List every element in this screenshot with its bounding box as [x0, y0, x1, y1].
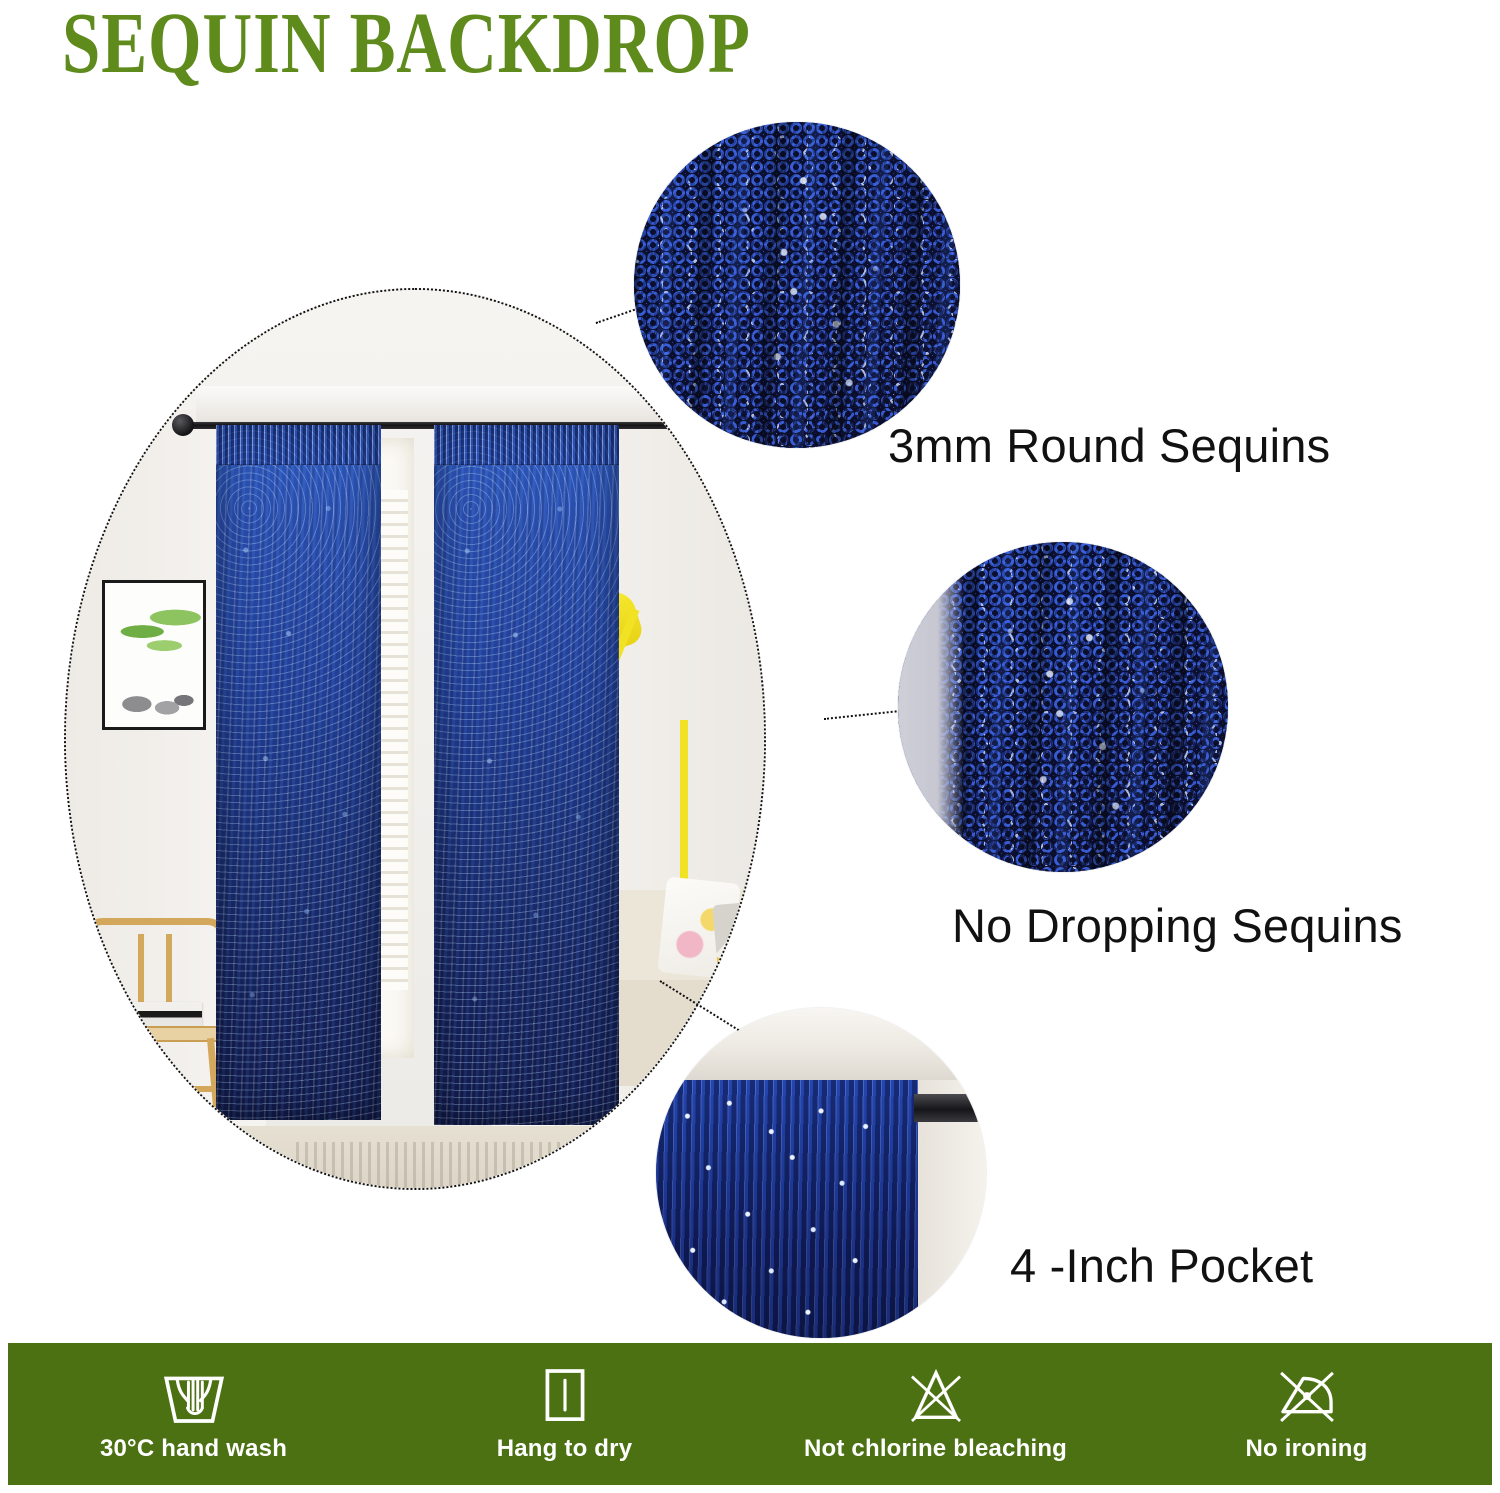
rod-pocket-closeup [656, 1008, 986, 1338]
chair-leg [85, 1038, 102, 1154]
rod-pocket [434, 425, 619, 465]
care-item-no-iron: No ironing [1121, 1343, 1492, 1485]
stones-art [115, 671, 199, 717]
ceiling-molding [656, 1008, 986, 1080]
stacked-books [104, 1002, 202, 1026]
care-item-no-bleach: Not chlorine bleaching [750, 1343, 1121, 1485]
hand-wash-icon [157, 1365, 231, 1427]
background-edge [898, 542, 964, 872]
chair-y-support [138, 934, 172, 1012]
sequin-panel-left [216, 425, 381, 1120]
rod-pocket [216, 425, 381, 465]
feature-label-no-dropping: No Dropping Sequins [952, 898, 1403, 953]
rod-end [914, 1094, 986, 1122]
page-title: SEQUIN BACKDROP [62, 0, 751, 94]
care-instructions-bar: 30°C hand wash Hang to dry Not chlorine … [8, 1343, 1492, 1485]
care-label-hand-wash: 30°C hand wash [100, 1435, 287, 1463]
no-chlorine-bleach-icon [899, 1365, 973, 1427]
rug-pattern [296, 1142, 626, 1190]
care-label-no-bleach: Not chlorine bleaching [804, 1435, 1067, 1463]
sequin-durability-closeup [898, 542, 1228, 872]
palm-leaf-art [111, 591, 203, 669]
sequin-macro-closeup [634, 122, 960, 448]
no-ironing-icon [1270, 1365, 1344, 1427]
care-item-hand-wash: 30°C hand wash [8, 1343, 379, 1485]
sequin-panel-right [434, 425, 619, 1125]
care-label-hang-dry: Hang to dry [497, 1435, 633, 1463]
framed-wall-art [102, 580, 206, 730]
chair-rail [92, 1086, 218, 1092]
feature-label-pocket: 4 -Inch Pocket [1010, 1238, 1313, 1293]
sequin-shimmer [434, 425, 619, 1125]
wooden-chair [80, 918, 230, 1158]
fabric-folds [634, 122, 960, 448]
care-label-no-iron: No ironing [1246, 1435, 1368, 1463]
hang-to-dry-icon [528, 1365, 602, 1427]
care-item-hang-dry: Hang to dry [379, 1343, 750, 1485]
sequin-sparkles [656, 1080, 918, 1338]
feature-label-sequins: 3mm Round Sequins [888, 418, 1330, 473]
infographic-page: SEQUIN BACKDROP [0, 0, 1500, 1493]
sequin-shimmer [216, 425, 381, 1120]
rod-finial-left [172, 414, 194, 436]
